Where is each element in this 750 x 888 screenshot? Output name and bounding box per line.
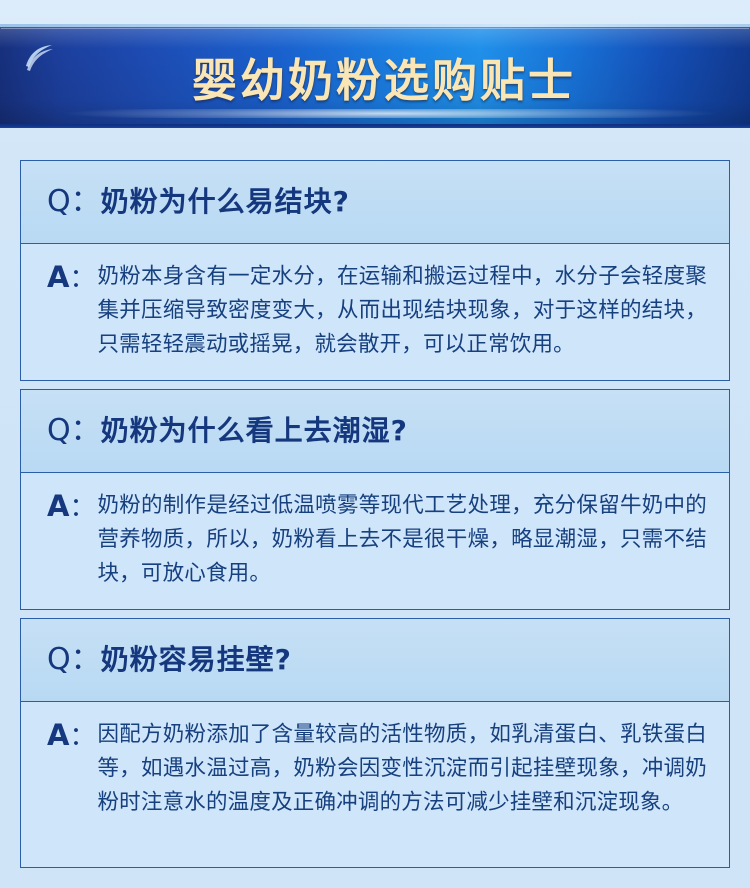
faq-answer-text: 奶粉的制作是经过低温喷雾等现代工艺处理，充分保留牛奶中的营养物质，所以，奶粉看上… bbox=[97, 489, 707, 591]
faq-question-row[interactable]: Q：奶粉为什么看上去潮湿? bbox=[20, 389, 730, 473]
question-prefix: Q bbox=[47, 642, 71, 677]
page-title: 婴幼奶粉选购贴士 bbox=[0, 27, 750, 125]
answer-separator: ： bbox=[69, 264, 95, 294]
faq-item: Q：奶粉为什么看上去潮湿? A： 奶粉的制作是经过低温喷雾等现代工艺处理，充分保… bbox=[20, 389, 730, 610]
faq-question-text: Q：奶粉为什么易结块? bbox=[47, 187, 350, 217]
banner-bottom-edge bbox=[0, 124, 750, 128]
page-root: 婴幼奶粉选购贴士 Q：奶粉为什么易结块? A： 奶粉本身含有一定水分，在运输和搬… bbox=[0, 0, 750, 888]
answer-prefix: A bbox=[47, 260, 69, 294]
question-label: 奶粉容易挂壁? bbox=[101, 643, 292, 676]
faq-list: Q：奶粉为什么易结块? A： 奶粉本身含有一定水分，在运输和搬运过程中，水分子会… bbox=[20, 160, 730, 876]
question-prefix: Q bbox=[47, 184, 71, 219]
question-separator: ： bbox=[71, 642, 101, 677]
faq-question-row[interactable]: Q：奶粉为什么易结块? bbox=[20, 160, 730, 244]
faq-question-text: Q：奶粉容易挂壁? bbox=[47, 645, 292, 675]
header-banner: 婴幼奶粉选购贴士 bbox=[0, 24, 750, 128]
faq-answer-text: 因配方奶粉添加了含量较高的活性物质，如乳清蛋白、乳铁蛋白等，如遇水温过高，奶粉会… bbox=[97, 718, 707, 820]
answer-prefix: A bbox=[47, 718, 69, 752]
faq-item: Q：奶粉容易挂壁? A： 因配方奶粉添加了含量较高的活性物质，如乳清蛋白、乳铁蛋… bbox=[20, 618, 730, 868]
answer-prefix-group: A： bbox=[47, 718, 97, 754]
faq-question-row[interactable]: Q：奶粉容易挂壁? bbox=[20, 618, 730, 702]
question-prefix: Q bbox=[47, 413, 71, 448]
banner-body: 婴幼奶粉选购贴士 bbox=[0, 27, 750, 125]
faq-answer-row: A： 因配方奶粉添加了含量较高的活性物质，如乳清蛋白、乳铁蛋白等，如遇水温过高，… bbox=[20, 702, 730, 868]
question-label: 奶粉为什么看上去潮湿? bbox=[101, 414, 408, 447]
answer-prefix-group: A： bbox=[47, 260, 97, 296]
answer-separator: ： bbox=[69, 493, 95, 523]
question-separator: ： bbox=[71, 413, 101, 448]
question-separator: ： bbox=[71, 184, 101, 219]
faq-answer-row: A： 奶粉的制作是经过低温喷雾等现代工艺处理，充分保留牛奶中的营养物质，所以，奶… bbox=[20, 473, 730, 610]
faq-answer-row: A： 奶粉本身含有一定水分，在运输和搬运过程中，水分子会轻度聚集并压缩导致密度变… bbox=[20, 244, 730, 381]
answer-prefix-group: A： bbox=[47, 489, 97, 525]
answer-separator: ： bbox=[69, 722, 95, 752]
question-label: 奶粉为什么易结块? bbox=[101, 185, 350, 218]
faq-question-text: Q：奶粉为什么看上去潮湿? bbox=[47, 416, 408, 446]
faq-answer-text: 奶粉本身含有一定水分，在运输和搬运过程中，水分子会轻度聚集并压缩导致密度变大，从… bbox=[97, 260, 707, 362]
faq-item: Q：奶粉为什么易结块? A： 奶粉本身含有一定水分，在运输和搬运过程中，水分子会… bbox=[20, 160, 730, 381]
answer-prefix: A bbox=[47, 489, 69, 523]
